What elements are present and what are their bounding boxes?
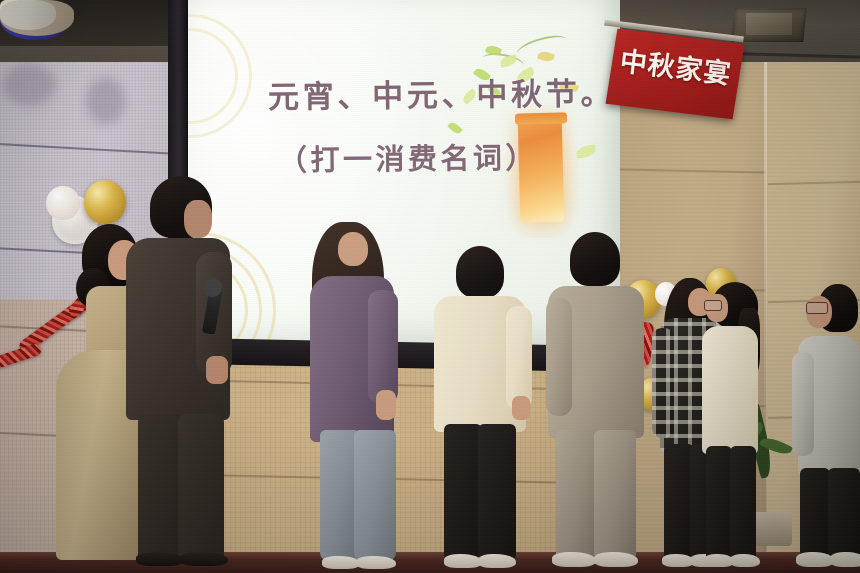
- hood: [0, 0, 56, 30]
- glasses-icon: [704, 300, 722, 311]
- leg: [478, 424, 516, 560]
- leg: [354, 430, 396, 562]
- person-man-light-hoodie-glasses: [0, 0, 56, 30]
- head: [338, 232, 368, 266]
- photo-scene: 元宵、中元、中秋节。 （打一消费名词） 中秋家宴: [0, 0, 860, 573]
- hand: [512, 396, 530, 420]
- wall-stain: [86, 78, 126, 124]
- leg: [556, 430, 598, 560]
- ceiling-vent-inner: [746, 13, 792, 35]
- leg: [800, 468, 830, 562]
- arm: [652, 328, 674, 438]
- cream-hoodie: [702, 326, 758, 454]
- hair: [456, 246, 504, 298]
- leg: [730, 446, 756, 562]
- arm: [506, 306, 532, 410]
- leg: [594, 430, 636, 560]
- shoe: [322, 556, 360, 569]
- shoe: [552, 552, 596, 567]
- gold-balloon-left: [84, 180, 126, 224]
- hair: [570, 232, 620, 286]
- column-corner-edge: [764, 44, 767, 573]
- hand: [206, 356, 228, 384]
- arm: [546, 298, 572, 416]
- shoe: [444, 554, 482, 568]
- shoe: [594, 552, 638, 567]
- shoe: [730, 554, 760, 567]
- glasses-icon: [806, 302, 828, 314]
- shoe: [136, 552, 184, 566]
- slide-line-2: （打一消费名词）: [278, 135, 538, 180]
- shoe: [180, 552, 228, 566]
- head: [184, 200, 212, 238]
- shoe: [830, 552, 860, 567]
- leg: [178, 414, 224, 562]
- wall-stain: [2, 64, 56, 106]
- leg: [444, 424, 482, 560]
- hand: [376, 390, 396, 420]
- shoe: [356, 556, 396, 569]
- shoe: [796, 552, 834, 567]
- arm: [792, 352, 814, 456]
- arm: [368, 290, 398, 404]
- leg: [828, 468, 860, 562]
- shoe: [478, 554, 516, 568]
- microphone-head: [203, 278, 222, 297]
- white-balloon-left: [46, 186, 80, 220]
- slide-line-1: 元宵、中元、中秋节。: [268, 68, 616, 117]
- leg: [706, 446, 732, 562]
